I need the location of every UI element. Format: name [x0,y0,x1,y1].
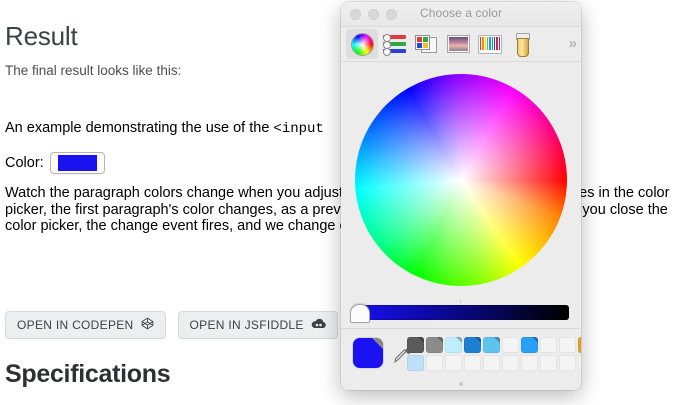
intro-text: The final result looks like this: [5,63,181,78]
swatch-empty[interactable] [521,355,538,371]
recent-swatches-grid[interactable] [407,337,581,371]
specifications-heading: Specifications [5,360,170,389]
swatch-empty[interactable] [445,355,462,371]
brightness-slider-thumb[interactable] [350,304,370,323]
crayons-icon [478,35,502,54]
pencils-tab[interactable] [506,29,538,59]
demo-paragraph-1: An example demonstrating the use of the … [5,120,324,138]
color-picker-dialog[interactable]: Choose a color [341,2,581,390]
open-in-codepen-label: OPEN IN CODEPEN [17,319,134,331]
jsfiddle-cloud-icon [311,318,326,331]
swatch-empty[interactable] [559,337,576,353]
swatch-empty[interactable] [540,337,557,353]
swatch-empty[interactable] [578,355,581,371]
brightness-slider-track[interactable] [353,305,569,320]
swatch-empty[interactable] [540,355,557,371]
swatch[interactable] [445,337,462,353]
swatch-empty[interactable] [464,355,481,371]
swatch[interactable] [483,337,500,353]
swatch-empty[interactable] [483,355,500,371]
color-input-swatch [58,155,97,171]
swatch[interactable] [578,337,581,353]
palette-icon [415,35,437,53]
swatch-empty[interactable] [502,355,519,371]
swatch[interactable] [407,355,424,371]
color-wheel-icon [352,34,373,55]
swatch-empty[interactable] [426,355,443,371]
swatch[interactable] [407,337,424,353]
color-wheel-area[interactable] [341,62,581,298]
input-tag-code: <input [273,121,323,137]
image-palettes-tab[interactable] [442,29,474,59]
color-wheel[interactable] [355,74,567,286]
dialog-titlebar[interactable]: Choose a color [341,2,581,27]
image-icon [447,35,470,53]
paint-tube-icon [515,33,529,55]
crayons-tab[interactable] [474,29,506,59]
page-title: Result [5,22,78,51]
swatch-tray [341,328,581,390]
demo-action-buttons: OPEN IN CODEPEN OPEN IN JSFIDDLE [5,311,338,339]
sliders-icon [383,35,406,53]
swatch-empty[interactable] [502,337,519,353]
codepen-icon [141,317,154,332]
slider-tick-mark [460,300,461,303]
brightness-slider-row [341,298,581,328]
open-in-jsfiddle-button[interactable]: OPEN IN JSFIDDLE [178,311,338,339]
color-input[interactable] [50,152,105,174]
demo-paragraph-1-text: An example demonstrating the use of the [5,120,273,136]
swatch-empty[interactable] [559,355,576,371]
color-input-label: Color: [5,155,44,171]
tray-resize-dot[interactable] [459,382,463,386]
picker-toolbar: » [341,27,581,62]
color-palettes-tab[interactable] [410,29,442,59]
open-in-codepen-button[interactable]: OPEN IN CODEPEN [5,311,166,339]
swatch[interactable] [464,337,481,353]
toolbar-overflow-button[interactable]: » [569,35,575,52]
swatch[interactable] [426,337,443,353]
open-in-jsfiddle-label: OPEN IN JSFIDDLE [190,319,304,331]
color-input-row: Color: [5,152,105,174]
selected-color-preview[interactable] [353,338,383,368]
swatch[interactable] [521,337,538,353]
color-sliders-tab[interactable] [378,29,410,59]
color-wheel-tab[interactable] [346,29,378,59]
dialog-title: Choose a color [341,6,581,20]
